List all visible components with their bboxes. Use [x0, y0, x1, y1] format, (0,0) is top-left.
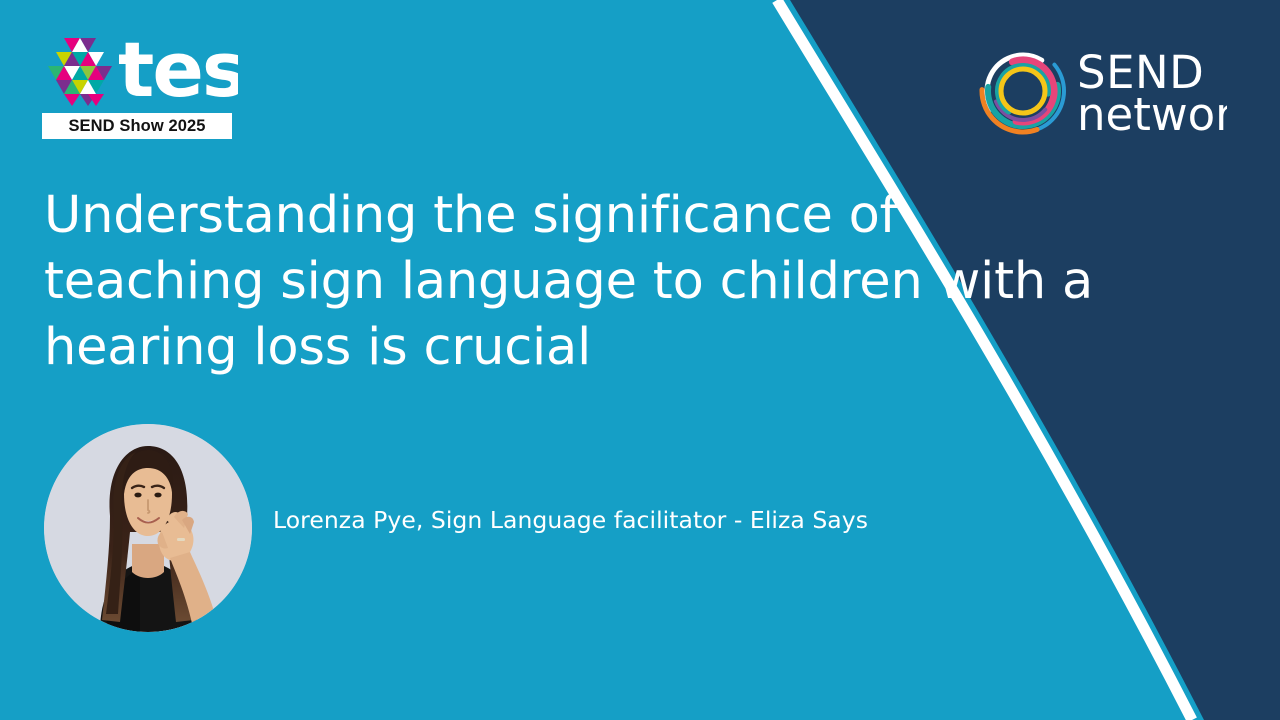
tes-mosaic-icon [42, 36, 116, 110]
send-wordmark-line2: network [1077, 88, 1227, 140]
send-show-badge-label: SEND Show 2025 [68, 117, 205, 136]
send-network-ring-icon [975, 43, 1071, 139]
tes-wordmark: tes [118, 34, 238, 114]
slide-title-line-1: Understanding the significance of [44, 183, 1024, 249]
tes-logo: tes SEND Show 2025 [42, 36, 238, 141]
tes-wordmark-text: tes [118, 34, 238, 114]
send-network-logo: SEND network [975, 40, 1225, 145]
send-show-badge: SEND Show 2025 [42, 113, 232, 139]
speaker-avatar [44, 424, 252, 632]
presentation-slide: tes SEND Show 2025 SEND network Un [0, 0, 1280, 720]
slide-title-line-3: hearing loss is crucial [44, 315, 1024, 381]
speaker-portrait-illustration [44, 424, 252, 632]
slide-title-line-2: teaching sign language to children with … [44, 249, 1024, 315]
speaker-caption: Lorenza Pye, Sign Language facilitator -… [273, 503, 868, 537]
send-network-wordmark: SEND network [1077, 44, 1227, 140]
slide-title: Understanding the significance of teachi… [44, 183, 1024, 381]
